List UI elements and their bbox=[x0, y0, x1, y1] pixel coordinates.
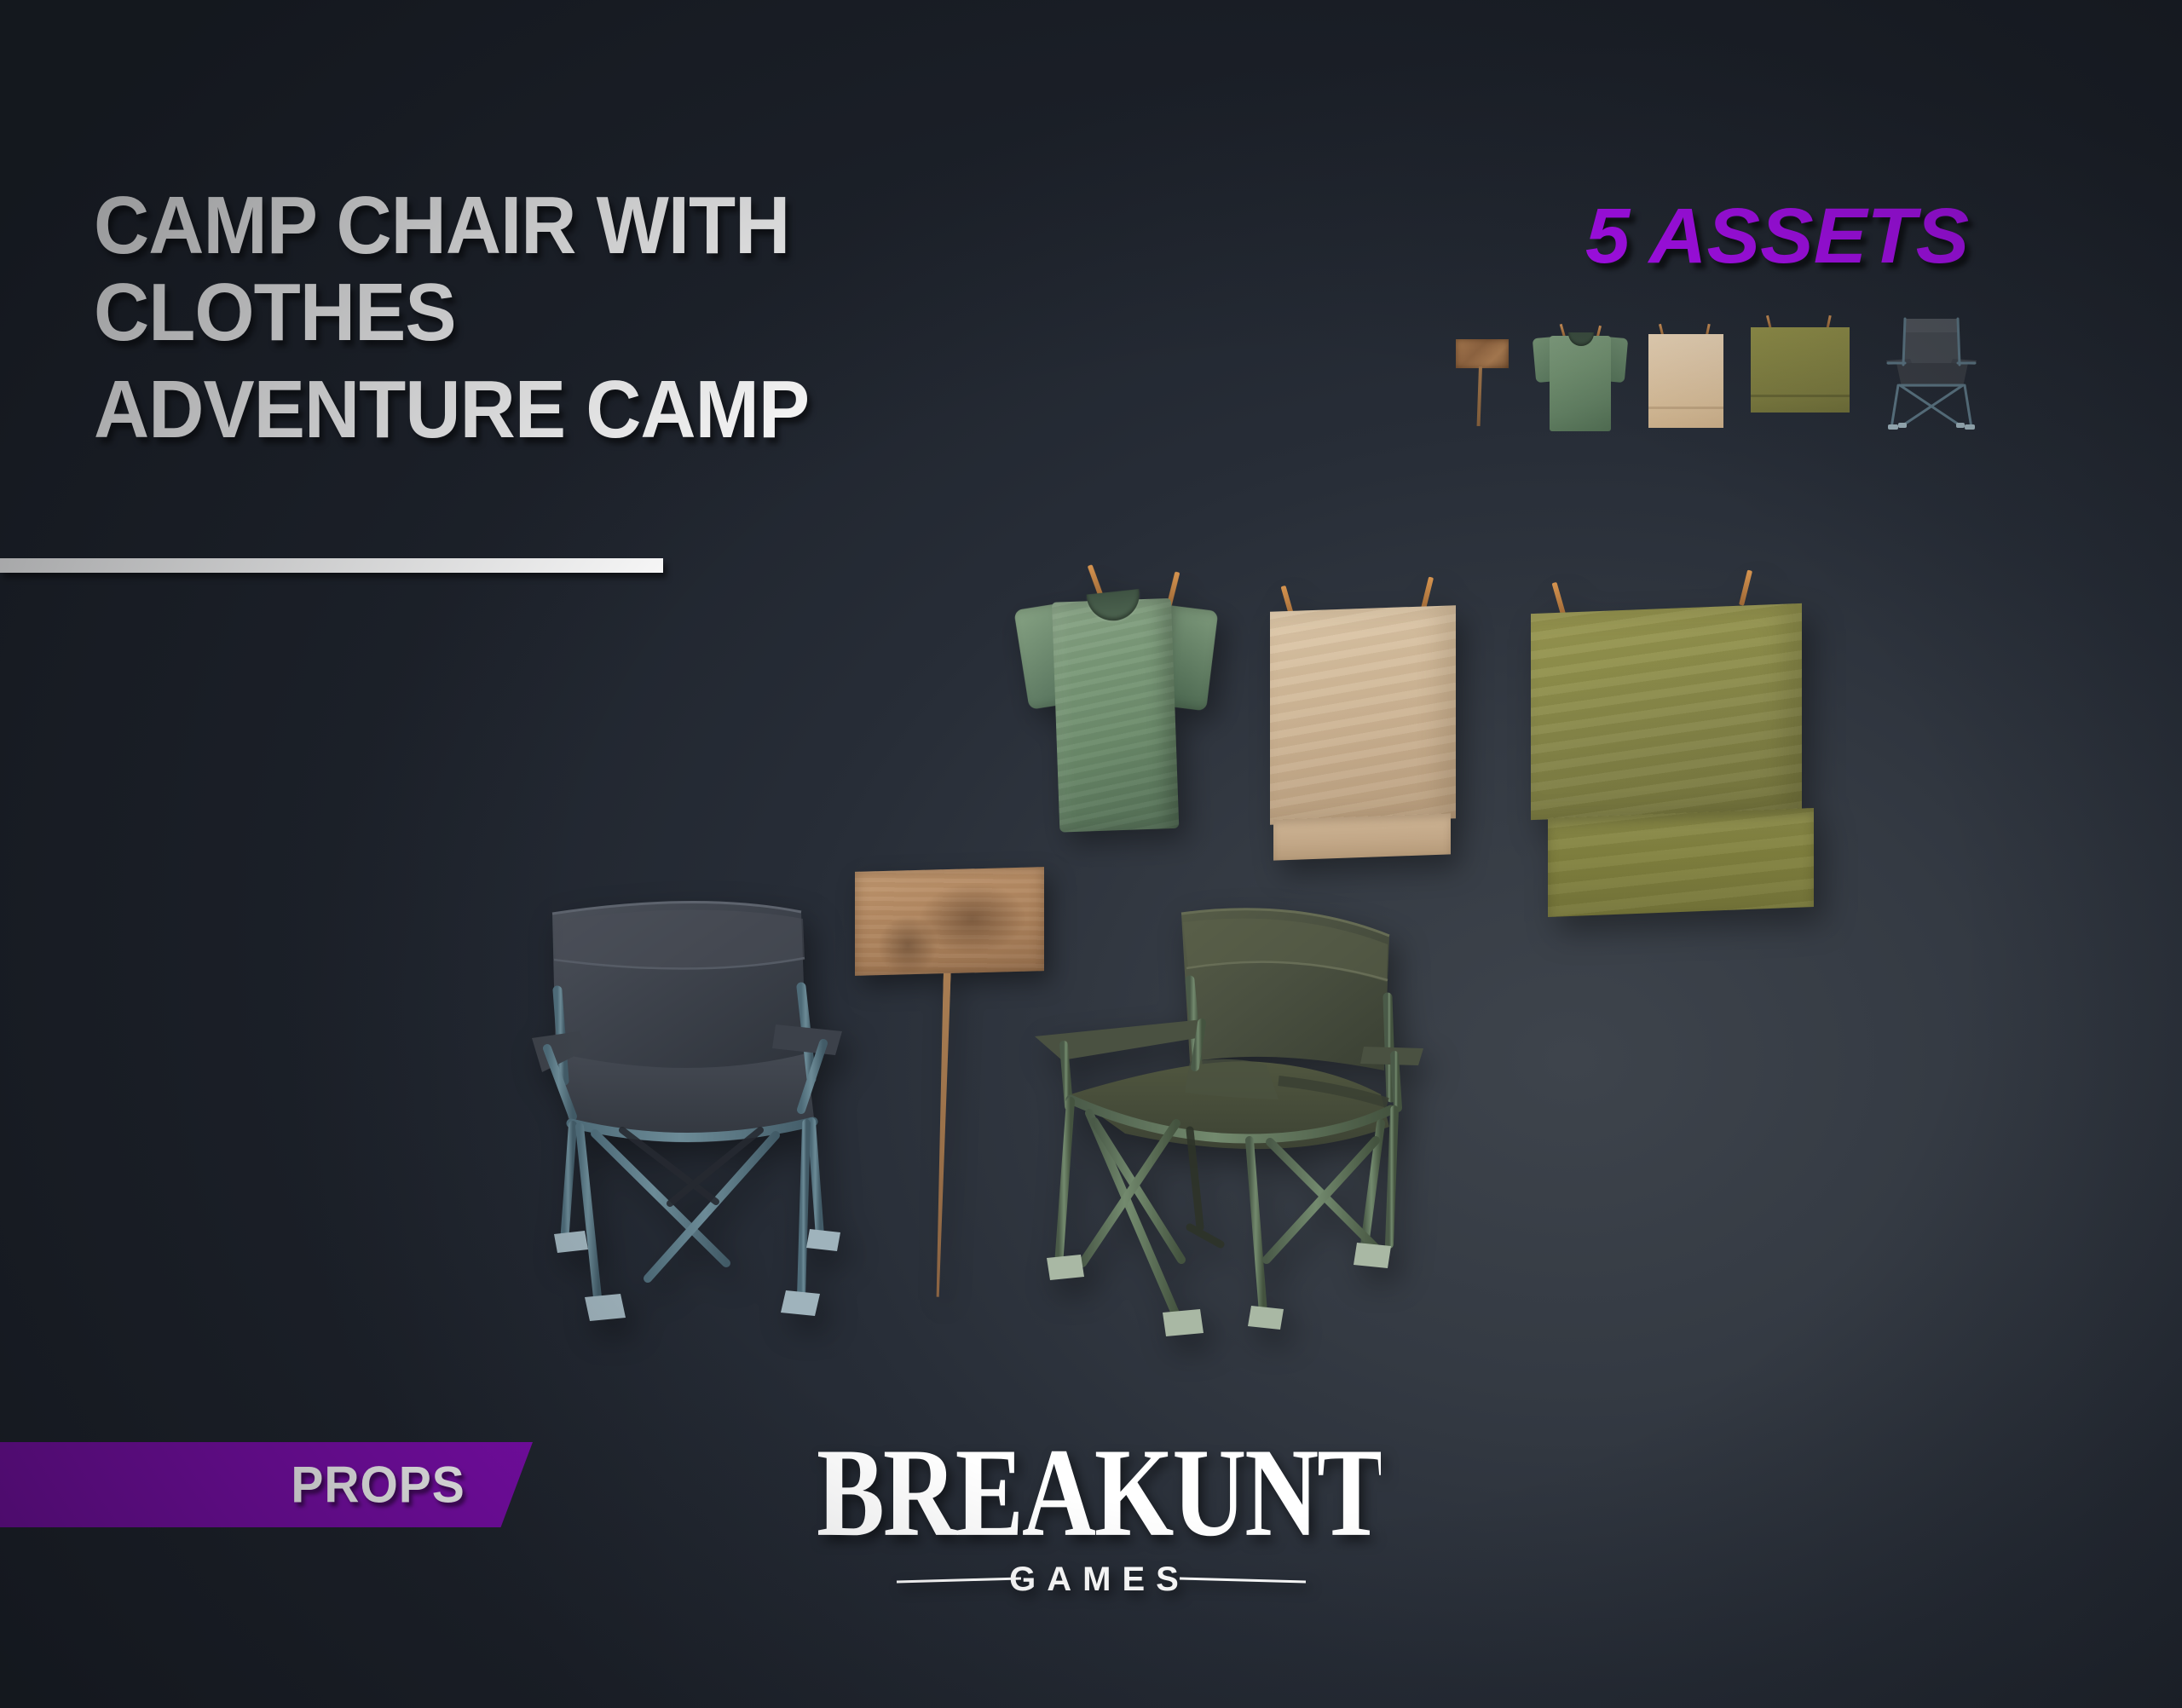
camp-chair-olive bbox=[1023, 886, 1432, 1432]
promo-banner: CAMP CHAIR WITH CLOTHES ADVENTURE CAMP 5… bbox=[0, 0, 2182, 1708]
category-badge[interactable]: PROPS bbox=[0, 1442, 533, 1527]
olive-towel-fold bbox=[1548, 808, 1814, 917]
olive-towel-face bbox=[1531, 603, 1802, 820]
logo-wordmark: BREAKUNT bbox=[818, 1440, 1381, 1563]
logo-subtitle: GAMES bbox=[1009, 1561, 1190, 1598]
category-badge-label: PROPS bbox=[291, 1456, 465, 1515]
tshirt-body bbox=[1052, 598, 1179, 833]
sign-stake bbox=[934, 965, 951, 1297]
hanging-t-shirt bbox=[1018, 559, 1223, 839]
sign-board bbox=[855, 867, 1044, 976]
beige-towel-face bbox=[1270, 605, 1456, 825]
clothespin-icon bbox=[1739, 570, 1752, 606]
hanging-beige-towel bbox=[1261, 588, 1466, 869]
brand-logo: BREAKUNT GAMES bbox=[818, 1440, 1381, 1624]
hanging-olive-towel bbox=[1526, 588, 1815, 955]
camp-chair-grey bbox=[520, 878, 878, 1406]
beige-towel-fold bbox=[1273, 813, 1451, 860]
